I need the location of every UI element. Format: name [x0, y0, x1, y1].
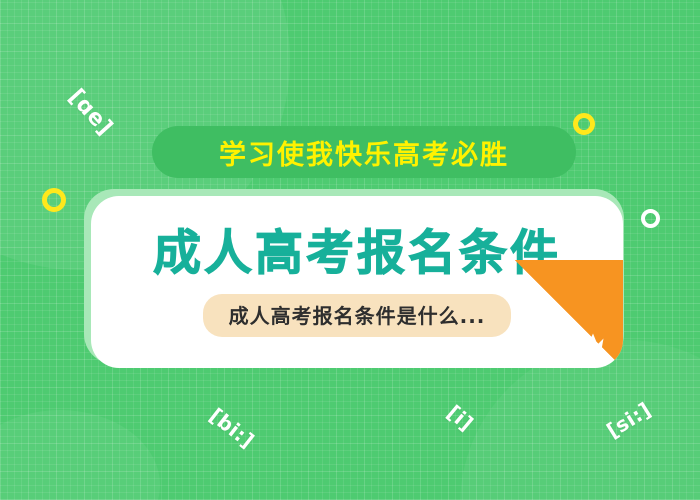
- corner-accent-wedge: [515, 260, 623, 368]
- slogan-banner: 学习使我快乐高考必胜: [152, 126, 576, 178]
- phonetic-bi: [bi:]: [205, 403, 259, 453]
- page-title: 成人高考报名条件: [153, 229, 561, 277]
- crown-icon: [572, 329, 606, 355]
- ring-yellow-left-icon: [42, 188, 66, 212]
- ring-yellow-top-icon: [573, 113, 595, 135]
- background-wisp: [0, 410, 160, 500]
- phonetic-i: [i]: [442, 400, 478, 436]
- subtitle-pill: 成人高考报名条件是什么...: [203, 294, 512, 337]
- subtitle-text: 成人高考报名条件是什么...: [229, 300, 486, 329]
- slogan-banner-text: 学习使我快乐高考必胜: [219, 133, 509, 172]
- ring-white-right-icon: [641, 209, 660, 228]
- main-card: 成人高考报名条件 成人高考报名条件是什么...: [91, 196, 623, 368]
- poster-canvas: [ɑe] [bi:] [i] [si:] 学习使我快乐高考必胜 成人高考报名条件…: [0, 0, 700, 500]
